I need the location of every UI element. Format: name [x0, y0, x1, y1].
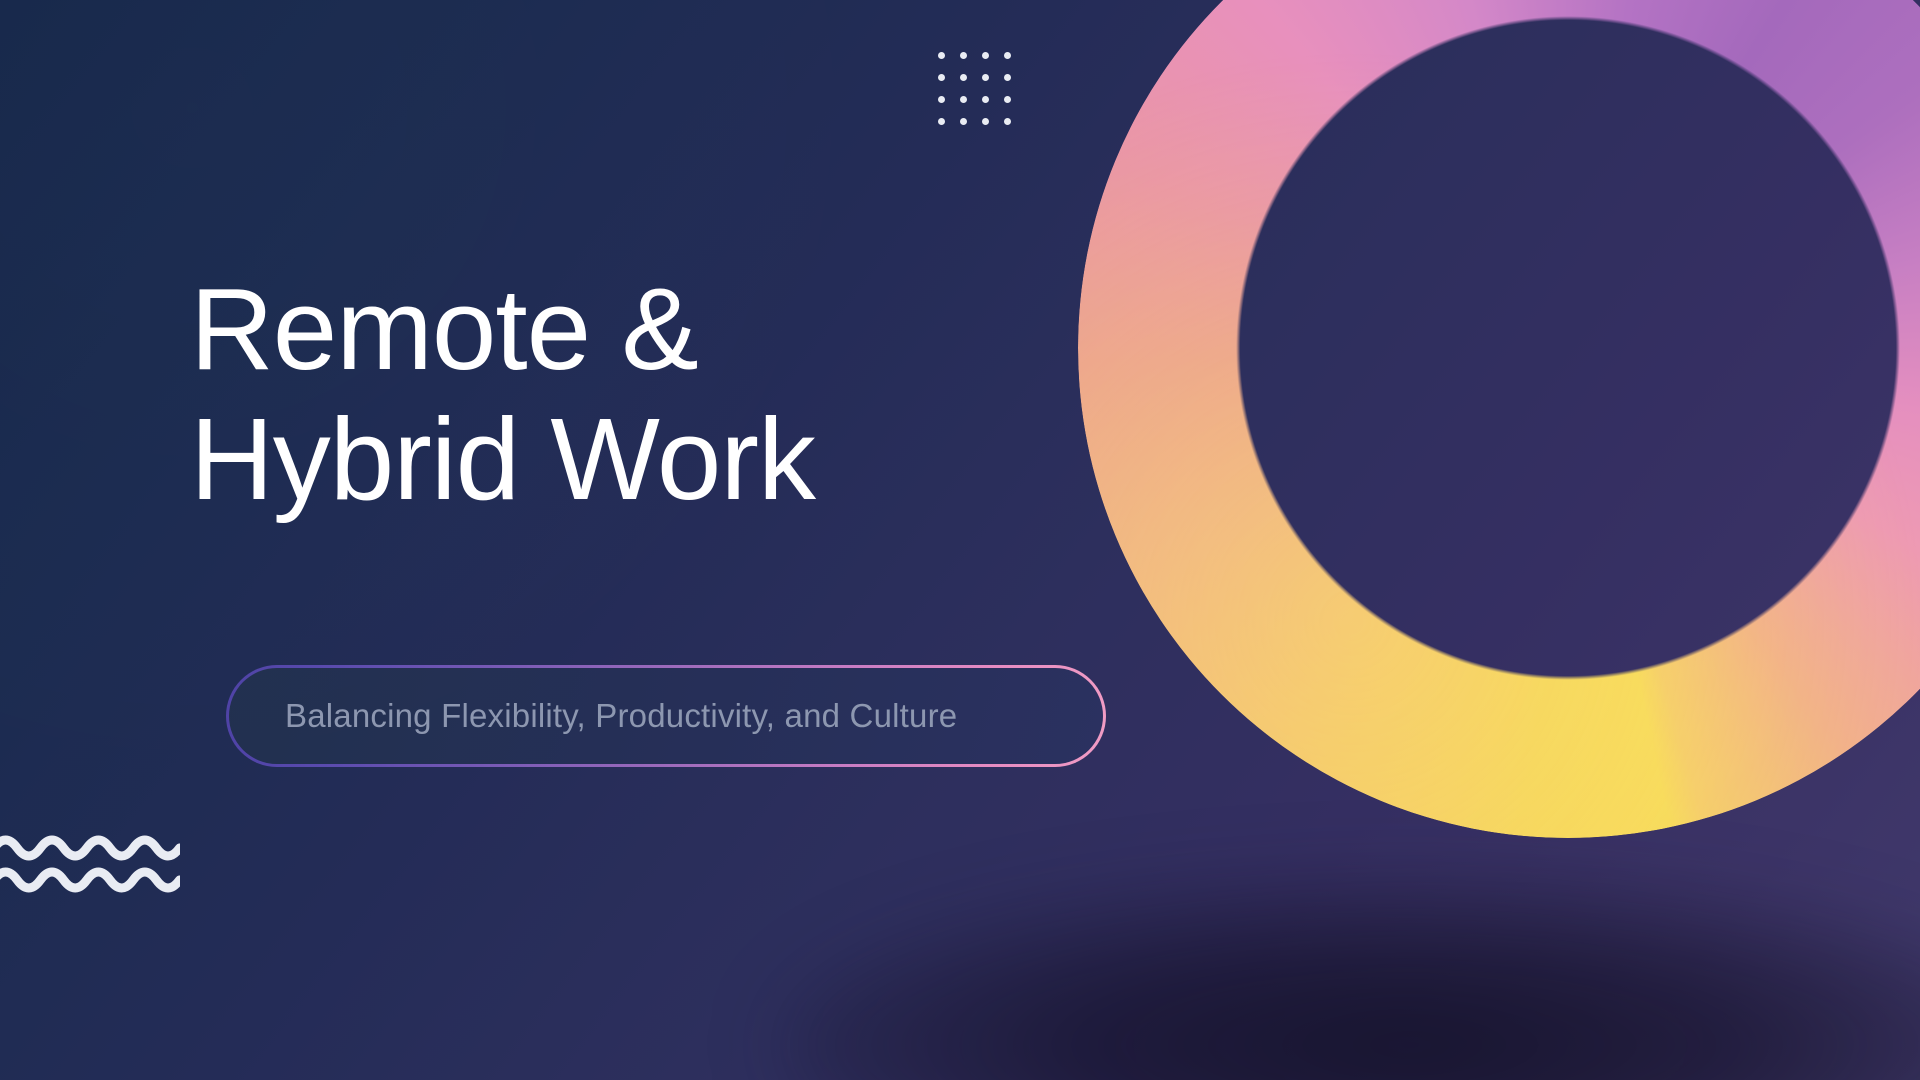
slide-title: Remote & Hybrid Work: [190, 264, 1190, 524]
grid-dot: [960, 96, 967, 103]
donut-sheen: [1078, 0, 1920, 838]
grid-dot: [960, 118, 967, 125]
grid-dot: [938, 52, 945, 59]
grid-dot: [938, 96, 945, 103]
grid-dot: [938, 74, 945, 81]
grid-dot: [938, 118, 945, 125]
title-slide: Remote & Hybrid Work Balancing Flexibili…: [0, 0, 1920, 1080]
dot-grid-icon: [938, 52, 1030, 124]
wave-lines-icon: [0, 826, 180, 902]
grid-dot: [960, 52, 967, 59]
grid-dot: [1004, 118, 1011, 125]
grid-dot: [982, 96, 989, 103]
grid-dot: [1004, 74, 1011, 81]
donut-ring-icon: [1078, 0, 1920, 838]
grid-dot: [982, 52, 989, 59]
grid-dot: [960, 74, 967, 81]
subtitle-pill-inner: Balancing Flexibility, Productivity, and…: [229, 668, 1103, 764]
bottom-vignette: [780, 880, 1920, 1080]
grid-dot: [982, 118, 989, 125]
title-line-1: Remote &: [190, 264, 1190, 394]
grid-dot: [982, 74, 989, 81]
title-line-2: Hybrid Work: [190, 394, 1190, 524]
subtitle-pill: Balancing Flexibility, Productivity, and…: [226, 665, 1106, 767]
grid-dot: [1004, 52, 1011, 59]
subtitle-text: Balancing Flexibility, Productivity, and…: [285, 697, 957, 735]
grain-overlay: [0, 0, 1920, 1080]
grid-dot: [1004, 96, 1011, 103]
gradient-donut-graphic: [1078, 0, 1920, 838]
